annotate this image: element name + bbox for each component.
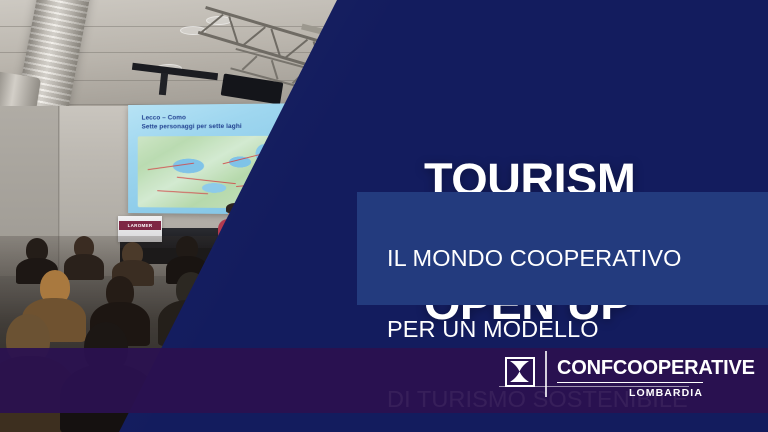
- lectern-banner: LAROMER: [119, 221, 161, 230]
- logo-rule: [557, 382, 703, 383]
- logo-wordmark: CONFCOOPERATIVE: [557, 358, 755, 378]
- subtitle-line-1: IL MONDO COOPERATIVO: [387, 247, 688, 271]
- slide-title-line2: Sette personaggi per sette laghi: [142, 123, 242, 131]
- confcooperative-bowtie-mark: [505, 357, 535, 387]
- poster-canvas: Lecco – Como Sette personaggi per sette …: [0, 0, 768, 432]
- slide-title: Lecco – Como Sette personaggi per sette …: [142, 113, 242, 132]
- subtitle-line-2: PER UN MODELLO: [387, 318, 688, 342]
- lectern-banner-text: LAROMER: [128, 223, 153, 228]
- slide-title-line1: Lecco – Como: [142, 114, 186, 121]
- confcooperative-logo: CONFCOOPERATIVE LOMBARDIA: [505, 355, 705, 407]
- logo-divider: [545, 351, 547, 397]
- subtitle-panel: IL MONDO COOPERATIVO PER UN MODELLO DI T…: [357, 192, 768, 305]
- logo-region: LOMBARDIA: [557, 386, 703, 402]
